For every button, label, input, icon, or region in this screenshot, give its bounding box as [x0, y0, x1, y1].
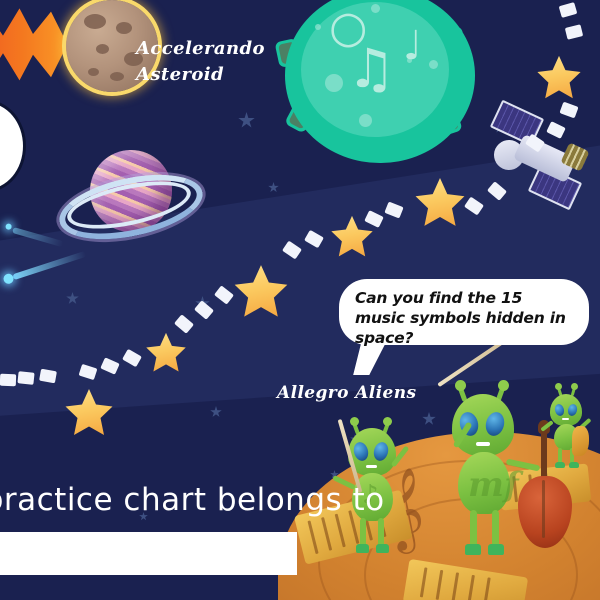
beamed-eighth-notes-icon: ♫: [347, 42, 395, 96]
label-accelerando-asteroid-line1: Accelerando: [136, 38, 265, 59]
path-dash: [0, 374, 16, 387]
path-dash: [39, 369, 57, 384]
page-title: This practice chart belongs to: [0, 483, 308, 517]
dynamic-marking-mf: mf: [468, 468, 519, 502]
half-note-icon: ♩: [403, 26, 422, 66]
speech-bubble-question: Can you find the 15 music symbols hidden…: [339, 279, 589, 345]
green-music-planet: ○ ♫ ♩: [285, 0, 475, 163]
label-accelerando-asteroid-line2: Asteroid: [136, 64, 224, 85]
planet-face: ○ ♫ ♩: [301, 2, 449, 137]
path-dash: [17, 371, 34, 385]
satellite: [486, 100, 596, 220]
label-allegro-aliens: Allegro Aliens: [277, 383, 416, 403]
saxophone-icon: [572, 426, 589, 456]
speech-bubble-text: Can you find the 15 music symbols hidden…: [339, 279, 589, 348]
student-name-input[interactable]: [0, 532, 297, 575]
ringed-planet: [60, 140, 190, 255]
poster-canvas: Accelerando Asteroid ○ ♫ ♩: [0, 0, 600, 600]
alien-conductor-main: mf: [436, 380, 556, 565]
